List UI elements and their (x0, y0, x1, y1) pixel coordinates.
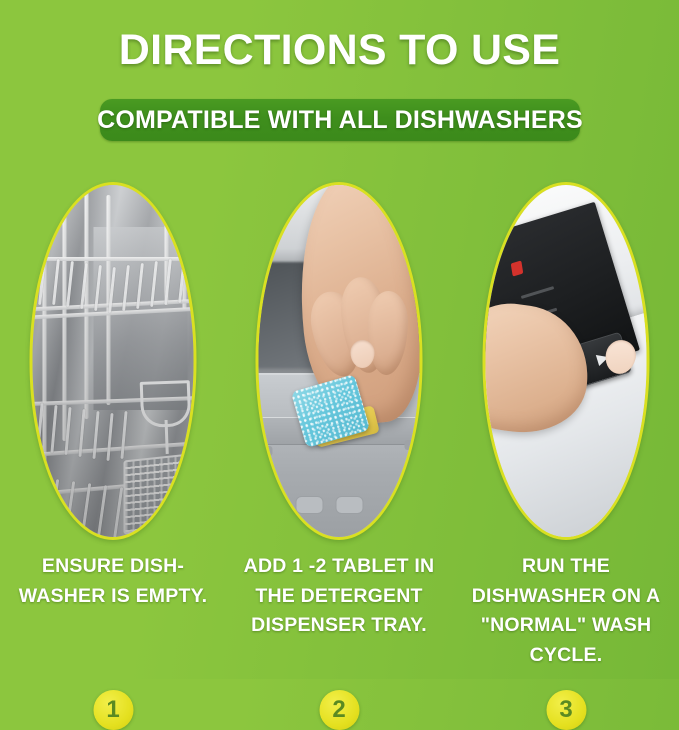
dishwasher-interior-photo (33, 185, 194, 537)
fingernail (350, 340, 374, 368)
tray-clip (296, 496, 324, 514)
step-2: 2 ADD 1 -2 TABLET IN THE DETERGENT DISPE… (226, 0, 452, 679)
step-2-number-badge: 2 (319, 690, 359, 730)
step-2-oval (256, 182, 423, 540)
step-2-image-frame: 2 (256, 182, 423, 540)
step-3-oval: ⏻ ▶❙❙ (483, 182, 650, 540)
step-3-number-badge: 3 (546, 690, 586, 730)
step-3-number: 3 (559, 698, 572, 722)
tablet-in-tray-photo (259, 185, 420, 537)
step-1-image-frame: 1 (30, 182, 197, 540)
step-1-caption: ENSURE DISH- WASHER IS EMPTY. (3, 552, 223, 611)
step-1: 1 ENSURE DISH- WASHER IS EMPTY. (0, 0, 226, 679)
step-1-number: 1 (106, 698, 119, 722)
control-panel-photo: ⏻ ▶❙❙ (486, 185, 647, 537)
steps-container: 1 ENSURE DISH- WASHER IS EMPTY. (0, 0, 679, 679)
step-3-caption: RUN THE DISHWASHER ON A "NORMAL" WASH CY… (456, 552, 676, 671)
tray-clip (335, 496, 363, 514)
step-3-image-frame: ⏻ ▶❙❙ 3 (483, 182, 650, 540)
step-1-number-badge: 1 (93, 690, 133, 730)
tray-nub (404, 440, 418, 450)
infographic-root: DIRECTIONS TO USE COMPATIBLE WITH ALL DI… (0, 0, 679, 679)
photo-shading (33, 185, 194, 537)
step-2-caption: ADD 1 -2 TABLET IN THE DETERGENT DISPENS… (229, 552, 449, 641)
step-2-number: 2 (332, 698, 345, 722)
tray-nub (259, 446, 273, 456)
step-3: ⏻ ▶❙❙ 3 RUN THE DISHWASHER ON A "NORMAL"… (453, 0, 679, 679)
step-1-oval (30, 182, 197, 540)
